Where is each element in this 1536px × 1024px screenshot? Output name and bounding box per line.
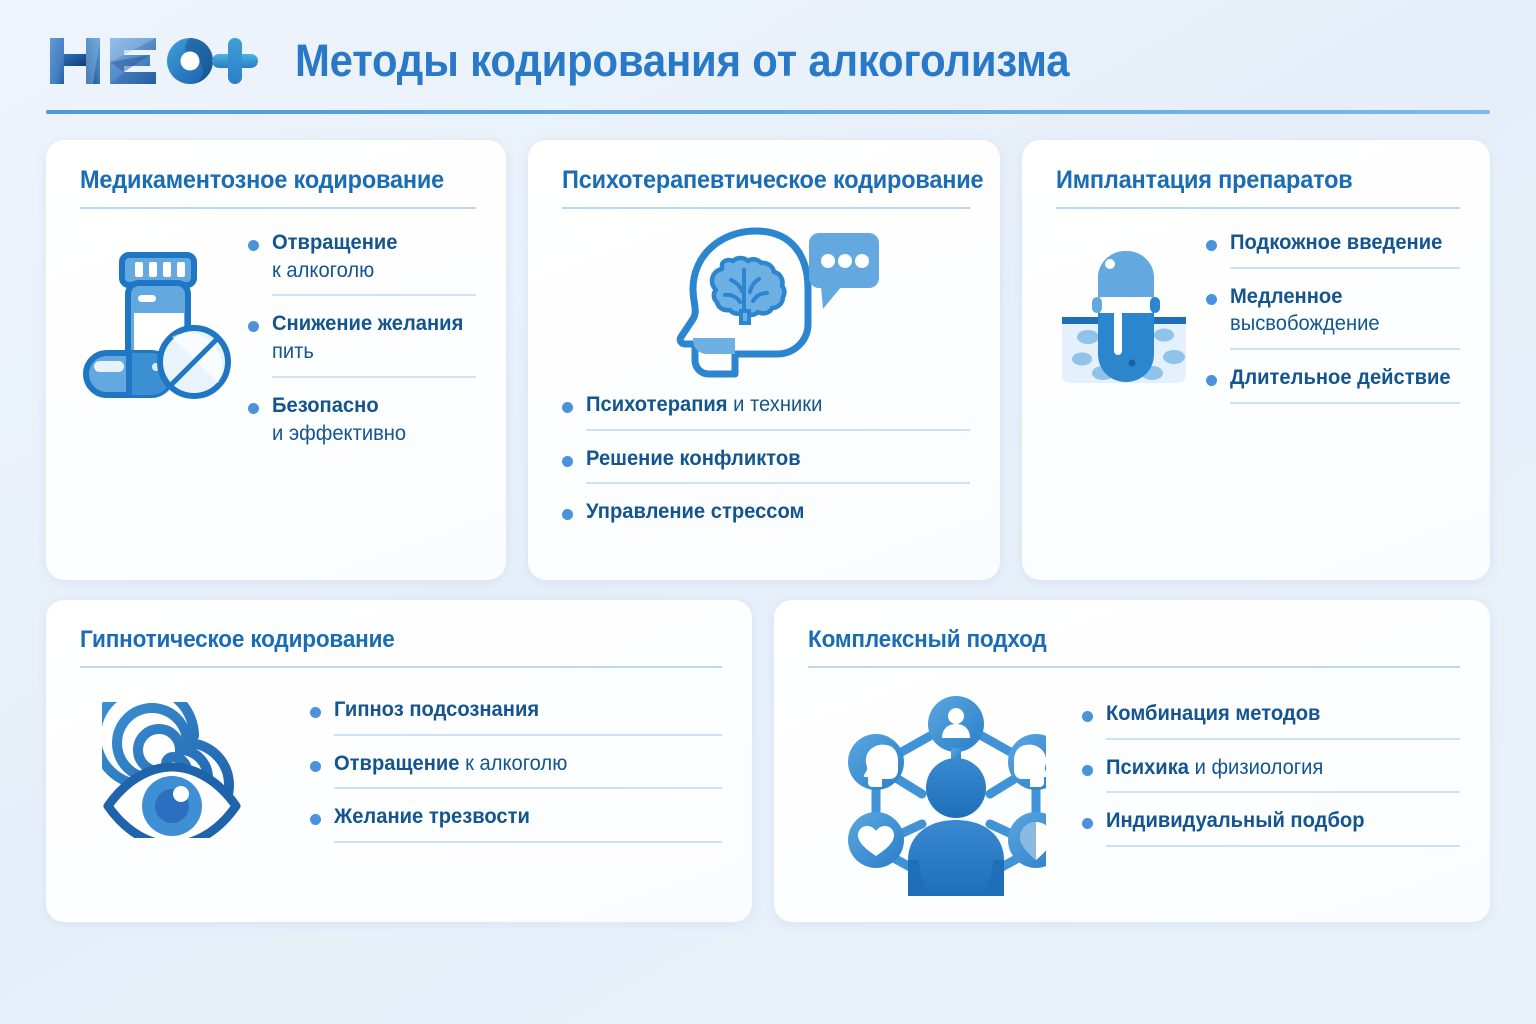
card-title-divider [80,666,722,668]
bullet-divider [1230,348,1460,350]
bullet-item: Безопасно и эффективно [248,392,476,447]
card-title-complex-approach: Комплексный подход [808,626,1421,654]
bullet-line-secondary: и эффективно [272,420,468,448]
bullet-line-primary: Желание трезвости [334,803,707,831]
bullet-item: Гипноз подсознания [310,696,722,724]
bullet-divider [334,841,722,843]
bullet-dot-icon [248,321,259,332]
bullet-item: Снижение желания пить [248,310,476,365]
page-header: Методы кодирования от алкоголизма [46,0,1490,104]
bullet-divider [1230,267,1460,269]
infographic-page: Методы кодирования от алкоголизма Медика… [0,0,1536,1024]
bullet-dot-icon [248,240,259,251]
page-title: Методы кодирования от алкоголизма [295,35,1069,87]
card-psychotherapy[interactable]: Психотерапевтическое кодирование [528,140,1000,580]
card-title-hypnosis: Гипнотическое кодирование [80,626,684,654]
bullet-dot-icon [1206,294,1217,305]
bullet-divider [334,787,722,789]
bullet-line-primary: Индивидуальный подбор [1106,807,1446,835]
bullet-line-primary: Психотерапия и техники [586,391,955,419]
bullet-item: Психика и физиология [1082,754,1460,782]
bullet-dot-icon [310,761,321,772]
bullet-line-primary: Медленное [1230,283,1451,311]
bullet-divider [586,429,970,431]
bullets-complex-approach: Комбинация методов Психика и физиология … [1082,688,1460,847]
cards-row-bottom: Гипнотическое кодирование [46,600,1490,922]
card-medication[interactable]: Медикаментозное кодирование [46,140,506,580]
card-body-hypnosis: Гипноз подсознания Отвращение к алкоголю… [80,688,722,843]
bullet-dot-icon [562,509,573,520]
pill-bottle-icon [80,229,248,408]
bullet-dot-icon [1082,711,1093,722]
bullet-divider [1230,402,1460,404]
bullet-dot-icon [310,707,321,718]
bullet-line-primary: Снижение желания [272,310,468,338]
hypnosis-eye-icon [80,688,310,843]
bullet-dot-icon [1206,240,1217,251]
bullet-item: Желание трезвости [310,803,722,831]
card-body-medication: Отвращение к алкоголю Снижение желания п… [80,229,476,447]
card-title-divider [80,207,476,209]
bullet-line-secondary: пить [272,338,468,366]
bullet-divider [272,376,476,378]
cards-row-top: Медикаментозное кодирование [46,140,1490,580]
bullet-divider [1106,845,1460,847]
bullet-divider [1106,791,1460,793]
bullets-implant: Подкожное введение Медленное высвобожден… [1206,229,1460,404]
bullet-item: Медленное высвобождение [1206,283,1460,338]
bullet-item: Психотерапия и техники [562,391,970,419]
bullet-line-primary: Управление стрессом [586,498,955,526]
card-body-complex-approach: Комбинация методов Психика и физиология … [808,688,1460,901]
bullet-line-primary: Длительное действие [1230,364,1451,392]
card-title-psychotherapy: Психотерапевтическое кодирование [562,166,946,195]
bullet-line-primary: Психика и физиология [1106,754,1446,782]
card-body-implant: Подкожное введение Медленное высвобожден… [1056,229,1460,404]
bullet-divider [334,734,722,736]
head-brain-speech-icon [562,223,970,383]
bullet-line-primary: Подкожное введение [1230,229,1451,257]
neo-plus-logo [46,33,261,89]
bullet-line-primary: Безопасно [272,392,468,420]
card-title-divider [1056,207,1460,209]
bullet-line-primary: Гипноз подсознания [334,696,707,724]
bullet-line-primary: Отвращение к алкоголю [334,750,707,778]
bullet-divider [272,294,476,296]
bullet-item: Отвращение к алкоголю [310,750,722,778]
bullet-dot-icon [1206,375,1217,386]
bullet-line-primary: Отвращение [272,229,468,257]
bullet-line-primary: Решение конфликтов [586,445,955,473]
bullet-dot-icon [310,814,321,825]
person-network-icon [808,688,1082,901]
card-title-divider [562,207,970,209]
bullet-line-primary: Комбинация методов [1106,700,1446,728]
card-title-divider [808,666,1460,668]
card-title-medication: Медикаментозное кодирование [80,166,452,195]
card-title-implant: Имплантация препаратов [1056,166,1436,195]
bullet-item: Индивидуальный подбор [1082,807,1460,835]
header-divider [46,110,1490,114]
bullet-item: Подкожное введение [1206,229,1460,257]
bullets-hypnosis: Гипноз подсознания Отвращение к алкоголю… [310,688,722,843]
card-body-psychotherapy: Психотерапия и техники Решение конфликто… [562,223,970,526]
bullet-divider [586,482,970,484]
bullet-divider [1106,738,1460,740]
bullet-dot-icon [248,403,259,414]
bullet-line-secondary: к алкоголю [272,257,468,285]
bullet-item: Управление стрессом [562,498,970,526]
bullet-dot-icon [562,456,573,467]
bullet-item: Комбинация методов [1082,700,1460,728]
bullets-medication: Отвращение к алкоголю Снижение желания п… [248,229,476,447]
card-implant[interactable]: Имплантация препаратов [1022,140,1490,580]
card-hypnosis[interactable]: Гипнотическое кодирование [46,600,752,922]
bullets-psychotherapy: Психотерапия и техники Решение конфликто… [562,391,970,526]
card-complex-approach[interactable]: Комплексный подход [774,600,1490,922]
bullet-dot-icon [562,402,573,413]
bullet-dot-icon [1082,818,1093,829]
bullet-item: Решение конфликтов [562,445,970,473]
bullet-item: Отвращение к алкоголю [248,229,476,284]
bullet-line-secondary: высвобождение [1230,310,1451,338]
bullet-dot-icon [1082,765,1093,776]
bullet-item: Длительное действие [1206,364,1460,392]
implant-capsule-icon [1056,229,1206,400]
